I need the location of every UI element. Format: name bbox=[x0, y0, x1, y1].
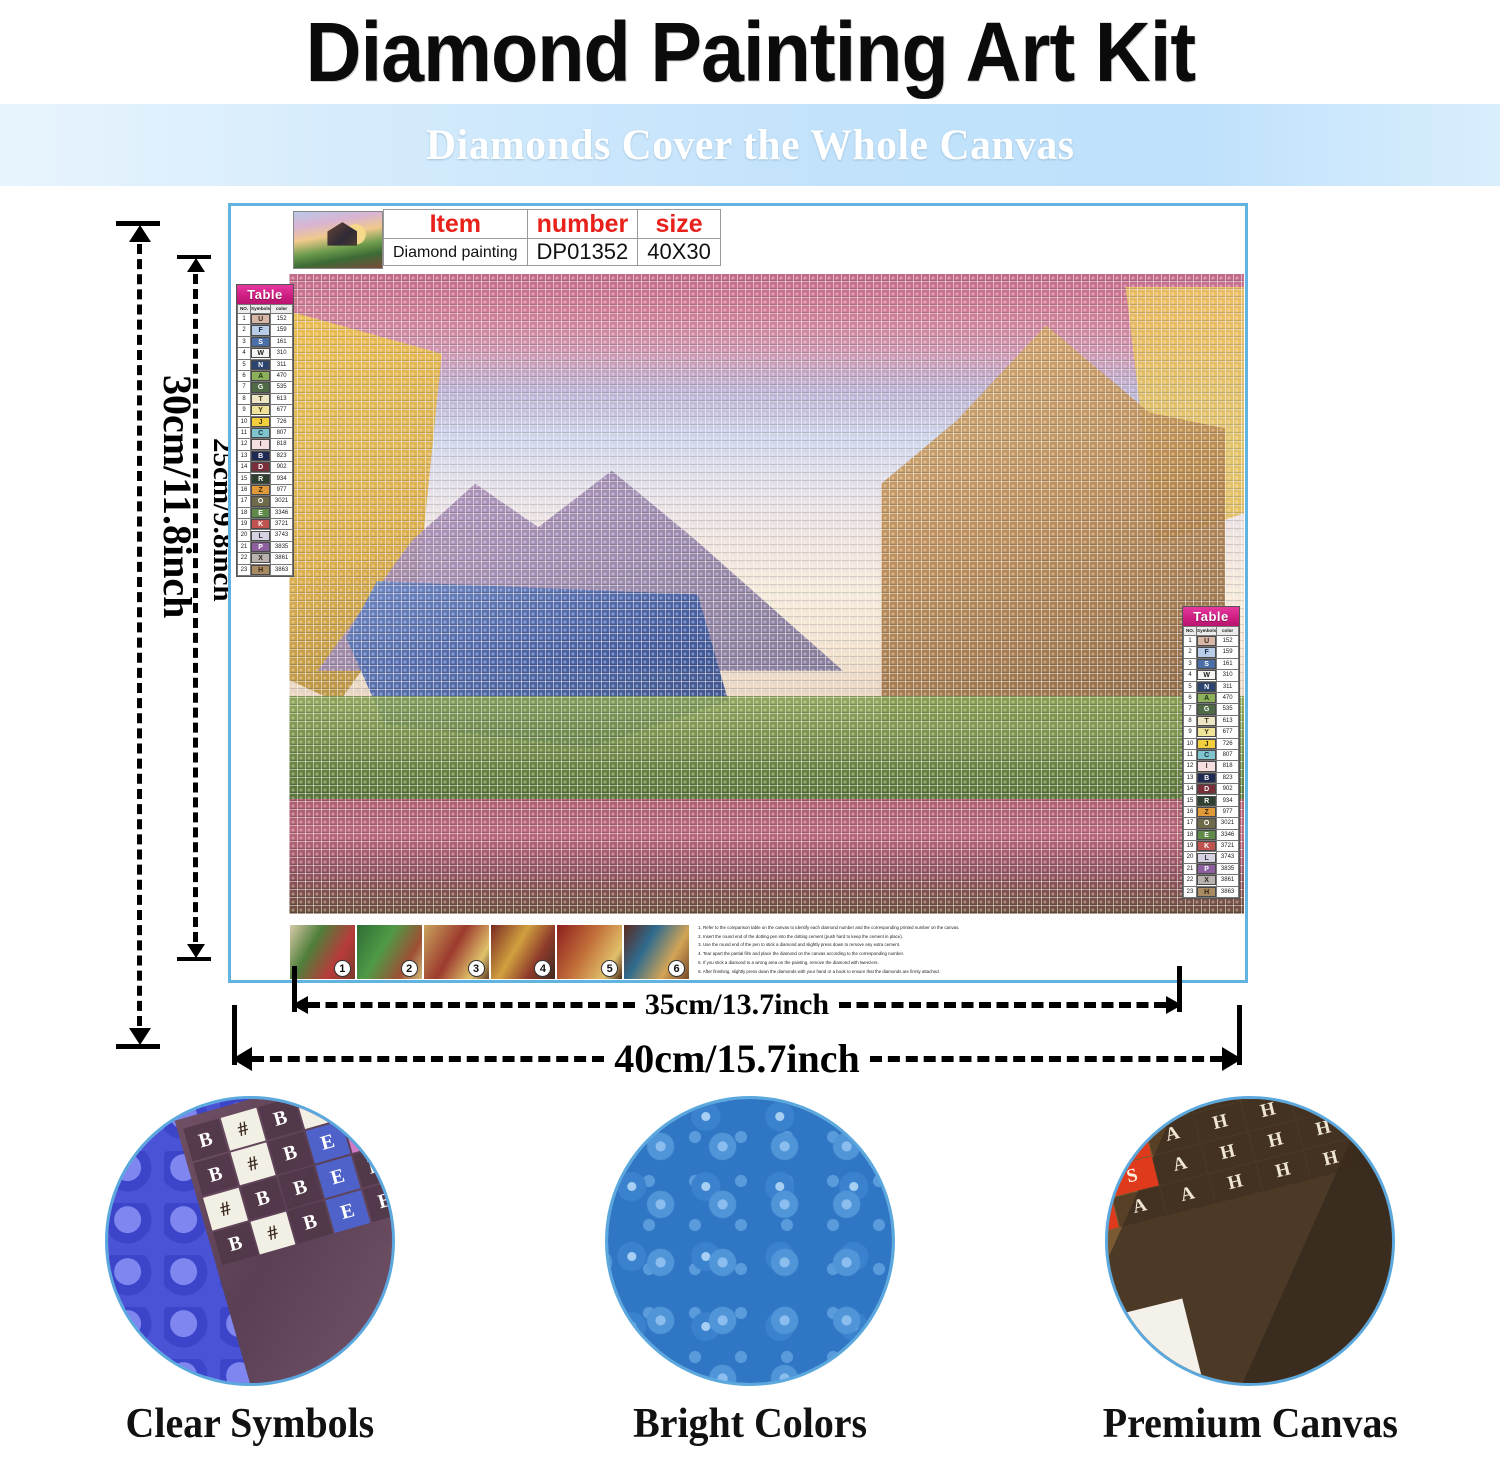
color-table-row: 20L3743 bbox=[1184, 852, 1239, 863]
color-table-row: 21P3835 bbox=[1184, 863, 1239, 874]
cell-color-code: 3021 bbox=[271, 496, 293, 507]
cell-no: 7 bbox=[1184, 704, 1197, 715]
cell-color-code: 161 bbox=[271, 336, 293, 347]
color-table-row: 15R934 bbox=[1184, 795, 1239, 806]
color-swatch: I bbox=[1197, 761, 1216, 771]
symbol-cell: E bbox=[325, 1190, 370, 1233]
color-swatch: Z bbox=[1197, 807, 1216, 817]
feature-caption: Bright Colors bbox=[633, 1400, 867, 1448]
color-swatch: B bbox=[1197, 773, 1216, 783]
feature-highlights: B # B # B B # B E K # B B E B B # bbox=[0, 1096, 1500, 1474]
cell-symbol: D bbox=[1197, 784, 1217, 795]
color-swatch: J bbox=[1197, 739, 1216, 749]
symbol-canvas-artwork bbox=[289, 274, 1244, 914]
cell-symbol: G bbox=[1197, 704, 1217, 715]
instruction-step-text: 4. Tear apart the partial film and place… bbox=[698, 950, 1244, 959]
page-subtitle: Diamonds Cover the Whole Canvas bbox=[426, 121, 1074, 170]
cell-symbol: T bbox=[251, 393, 271, 404]
symbol-cell: # bbox=[250, 1212, 295, 1255]
cell-color-code: 3743 bbox=[1217, 852, 1239, 863]
extension-cap bbox=[177, 255, 211, 259]
cell-item-name: Diamond painting bbox=[384, 239, 528, 266]
color-swatch: D bbox=[251, 462, 270, 472]
cell-no: 1 bbox=[238, 314, 251, 325]
cell-no: 11 bbox=[1184, 749, 1197, 760]
color-table-row: 19K3721 bbox=[1184, 841, 1239, 852]
cell-no: 22 bbox=[238, 553, 251, 564]
color-table-row: 21P3835 bbox=[238, 541, 293, 552]
extension-cap bbox=[1237, 1005, 1242, 1065]
cell-symbol: S bbox=[1197, 658, 1217, 669]
feature-image-clear-symbols: B # B # B B # B E K # B B E B B # bbox=[105, 1096, 395, 1386]
cell-symbol: J bbox=[251, 416, 271, 427]
arrow-down-icon bbox=[129, 1028, 151, 1045]
col-color: color bbox=[271, 305, 293, 314]
instruction-step-text: 5. If you stick a diamond to a wrong are… bbox=[698, 959, 1244, 968]
color-swatch: R bbox=[251, 474, 270, 484]
cell-no: 5 bbox=[238, 359, 251, 370]
extension-cap bbox=[177, 957, 211, 961]
color-swatch: S bbox=[251, 337, 270, 347]
col-no: NO. bbox=[238, 305, 251, 314]
color-swatch: A bbox=[251, 371, 270, 381]
color-swatch: H bbox=[1197, 887, 1216, 897]
color-swatch: Y bbox=[251, 405, 270, 415]
cell-symbol: H bbox=[251, 564, 271, 575]
cell-color-code: 3021 bbox=[1217, 818, 1239, 829]
col-color: color bbox=[1217, 627, 1239, 636]
color-swatch: T bbox=[1197, 716, 1216, 726]
color-table-row: 18E3346 bbox=[1184, 829, 1239, 840]
cell-symbol: B bbox=[251, 450, 271, 461]
cell-symbol: L bbox=[251, 530, 271, 541]
color-table-row: 23H3863 bbox=[238, 564, 293, 575]
cell-color-code: 159 bbox=[1217, 647, 1239, 658]
cell-symbol: T bbox=[1197, 715, 1217, 726]
color-swatch: C bbox=[1197, 750, 1216, 760]
cell-no: 8 bbox=[238, 393, 251, 404]
cell-color-code: 3861 bbox=[271, 553, 293, 564]
cell-no: 1 bbox=[1184, 636, 1197, 647]
cell-no: 5 bbox=[1184, 681, 1197, 692]
cell-symbol: W bbox=[1197, 670, 1217, 681]
product-infographic: Diamond Painting Art Kit Diamonds Cover … bbox=[0, 0, 1500, 1474]
color-table-row: 2F159 bbox=[238, 325, 293, 336]
color-table-row: 3S161 bbox=[238, 336, 293, 347]
col-symbol: Symbols bbox=[1197, 627, 1217, 636]
instruction-thumbnail: 4 bbox=[490, 924, 557, 980]
instruction-thumbnail: 3 bbox=[423, 924, 490, 980]
cell-symbol: Y bbox=[251, 405, 271, 416]
cell-color-code: 677 bbox=[271, 405, 293, 416]
instruction-step-number: 3 bbox=[468, 960, 485, 977]
cell-symbol: H bbox=[1197, 886, 1217, 897]
color-swatch: O bbox=[1197, 818, 1216, 828]
cell-color-code: 159 bbox=[271, 325, 293, 336]
cell-color-code: 152 bbox=[271, 314, 293, 325]
cell-symbol: E bbox=[1197, 829, 1217, 840]
cell-color-code: 977 bbox=[1217, 806, 1239, 817]
arrow-up-icon bbox=[129, 225, 151, 242]
instruction-text-block: 1. Refer to the comparison table on the … bbox=[690, 924, 1244, 980]
cell-no: 17 bbox=[1184, 818, 1197, 829]
cell-color-code: 726 bbox=[271, 416, 293, 427]
cell-no: 14 bbox=[238, 462, 251, 473]
col-symbol: Symbols bbox=[251, 305, 271, 314]
feature-caption: Premium Canvas bbox=[1102, 1400, 1397, 1448]
color-swatch: I bbox=[251, 439, 270, 449]
color-table-row: 8T613 bbox=[1184, 715, 1239, 726]
cell-no: 6 bbox=[238, 370, 251, 381]
cell-no: 13 bbox=[238, 450, 251, 461]
instruction-step-number: 6 bbox=[668, 960, 685, 977]
cell-color-code: 613 bbox=[1217, 715, 1239, 726]
cell-symbol: E bbox=[251, 507, 271, 518]
color-table-row: 13B823 bbox=[238, 450, 293, 461]
dimension-inner-width-label: 35cm/13.7inch bbox=[635, 988, 839, 1022]
cell-color-code: 3861 bbox=[1217, 875, 1239, 886]
cell-symbol: W bbox=[251, 348, 271, 359]
cell-symbol: C bbox=[251, 427, 271, 438]
color-table-body-left: 1U1522F1593S1614W3105N3116A4707G5358T613… bbox=[238, 314, 293, 576]
cell-symbol: X bbox=[251, 553, 271, 564]
cell-no: 15 bbox=[238, 473, 251, 484]
color-swatch: N bbox=[1197, 682, 1216, 692]
color-table-header-row: NO. Symbols color bbox=[238, 305, 293, 314]
color-table-row: 18E3346 bbox=[238, 507, 293, 518]
cell-symbol: R bbox=[251, 473, 271, 484]
cell-symbol: B bbox=[1197, 772, 1217, 783]
instruction-thumbnail: 6 bbox=[623, 924, 690, 980]
cell-color-code: 726 bbox=[1217, 738, 1239, 749]
subtitle-band: Diamonds Cover the Whole Canvas bbox=[0, 104, 1500, 186]
cell-symbol: I bbox=[251, 439, 271, 450]
dashed-line bbox=[839, 1002, 1166, 1008]
cell-symbol: U bbox=[251, 314, 271, 325]
instruction-step-number: 2 bbox=[401, 960, 418, 977]
cell-color-code: 161 bbox=[1217, 658, 1239, 669]
cell-no: 3 bbox=[238, 336, 251, 347]
extension-cap bbox=[292, 966, 297, 1012]
cell-symbol: N bbox=[251, 359, 271, 370]
cell-no: 18 bbox=[1184, 829, 1197, 840]
color-table-body-right: 1U1522F1593S1614W3105N3116A4707G5358T613… bbox=[1184, 636, 1239, 898]
color-table-row: 13B823 bbox=[1184, 772, 1239, 783]
cell-color-code: 3835 bbox=[271, 541, 293, 552]
color-swatch: W bbox=[251, 348, 270, 358]
cell-no: 23 bbox=[238, 564, 251, 575]
color-table-row: 10J726 bbox=[238, 416, 293, 427]
color-swatch: E bbox=[1197, 830, 1216, 840]
instruction-step-text: 1. Refer to the comparison table on the … bbox=[698, 924, 1244, 933]
cell-color-code: 934 bbox=[1217, 795, 1239, 806]
cell-no: 9 bbox=[238, 405, 251, 416]
cell-no: 6 bbox=[1184, 692, 1197, 703]
table-row: Diamond painting DP01352 40X30 bbox=[384, 239, 721, 266]
color-table-title: Table bbox=[237, 285, 293, 304]
cell-symbol: A bbox=[1197, 692, 1217, 703]
color-table-row: 4W310 bbox=[1184, 670, 1239, 681]
feature-image-premium-canvas: F Y G H H H H F S A H H H H S S A bbox=[1105, 1096, 1395, 1386]
color-table-row: 2F159 bbox=[1184, 647, 1239, 658]
cell-color-code: 311 bbox=[1217, 681, 1239, 692]
color-table-row: 17O3021 bbox=[1184, 818, 1239, 829]
color-table-row: 6A470 bbox=[1184, 692, 1239, 703]
title-bar: Diamond Painting Art Kit bbox=[0, 0, 1500, 104]
color-table-grid-left: NO. Symbols color 1U1522F1593S1614W3105N… bbox=[237, 304, 293, 576]
color-table-row: 1U152 bbox=[1184, 636, 1239, 647]
cell-no: 20 bbox=[1184, 852, 1197, 863]
instruction-step-text: 6. After finishing, slightly press down … bbox=[698, 968, 1244, 977]
header-cell-size: size bbox=[638, 210, 721, 239]
feature-clear-symbols: B # B # B B # B E K # B B E B B # bbox=[0, 1096, 500, 1474]
cell-symbol: D bbox=[251, 462, 271, 473]
color-swatch: A bbox=[1197, 693, 1216, 703]
arrow-up-icon bbox=[187, 258, 205, 272]
cell-item-size: 40X30 bbox=[638, 239, 721, 266]
extension-cap bbox=[1177, 966, 1182, 1012]
cell-no: 15 bbox=[1184, 795, 1197, 806]
extension-cap bbox=[116, 1044, 160, 1049]
color-table-row: 5N311 bbox=[238, 359, 293, 370]
cell-symbol: C bbox=[1197, 749, 1217, 760]
instruction-thumbnail: 5 bbox=[556, 924, 623, 980]
cell-color-code: 902 bbox=[1217, 784, 1239, 795]
cell-no: 4 bbox=[1184, 670, 1197, 681]
dimension-outer-width-label: 40cm/15.7inch bbox=[604, 1035, 870, 1082]
color-table-row: 9Y677 bbox=[1184, 727, 1239, 738]
cell-symbol: O bbox=[251, 496, 271, 507]
instruction-strip: 123456 1. Refer to the comparison table … bbox=[289, 924, 1244, 980]
cell-symbol: N bbox=[1197, 681, 1217, 692]
dashed-line bbox=[193, 274, 198, 942]
extension-cap bbox=[116, 221, 160, 226]
cell-color-code: 3721 bbox=[1217, 841, 1239, 852]
color-swatch: G bbox=[1197, 704, 1216, 714]
cell-symbol: R bbox=[1197, 795, 1217, 806]
cell-no: 21 bbox=[1184, 863, 1197, 874]
cell-no: 16 bbox=[238, 484, 251, 495]
cell-color-code: 807 bbox=[271, 427, 293, 438]
header-cell-number: number bbox=[527, 210, 638, 239]
color-table-row: 14D902 bbox=[1184, 784, 1239, 795]
color-table-row: 7G535 bbox=[238, 382, 293, 393]
color-swatch: U bbox=[251, 314, 270, 324]
color-swatch: F bbox=[1197, 647, 1216, 657]
artwork-preview-thumbnail bbox=[293, 211, 383, 269]
dashed-line bbox=[870, 1056, 1222, 1062]
color-table-row: 9Y677 bbox=[238, 405, 293, 416]
color-table-row: 11C807 bbox=[238, 427, 293, 438]
color-table-row: 22X3861 bbox=[238, 553, 293, 564]
color-table-row: 16Z977 bbox=[238, 484, 293, 495]
instruction-step-text: 2. Insert the round end of the dotting p… bbox=[698, 933, 1244, 942]
symbol-cell: B bbox=[287, 1201, 332, 1244]
color-table-row: 3S161 bbox=[1184, 658, 1239, 669]
cell-symbol: P bbox=[1197, 863, 1217, 874]
color-swatch: L bbox=[1197, 853, 1216, 863]
cell-symbol: F bbox=[251, 325, 271, 336]
color-swatch: L bbox=[251, 531, 270, 541]
canvas-frame: Item number size Diamond painting DP0135… bbox=[228, 203, 1248, 983]
cell-no: 17 bbox=[238, 496, 251, 507]
page-title: Diamond Painting Art Kit bbox=[305, 4, 1195, 101]
color-table-row: 7G535 bbox=[1184, 704, 1239, 715]
cell-no: 18 bbox=[238, 507, 251, 518]
cell-symbol: J bbox=[1197, 738, 1217, 749]
cell-no: 21 bbox=[238, 541, 251, 552]
feature-image-bright-colors bbox=[605, 1096, 895, 1386]
cell-color-code: 310 bbox=[271, 348, 293, 359]
color-swatch: X bbox=[1197, 875, 1216, 885]
cell-color-code: 977 bbox=[271, 484, 293, 495]
color-swatch: O bbox=[251, 496, 270, 506]
cell-color-code: 470 bbox=[271, 370, 293, 381]
instruction-step-number: 4 bbox=[534, 960, 551, 977]
cell-color-code: 310 bbox=[1217, 670, 1239, 681]
cell-no: 4 bbox=[238, 348, 251, 359]
color-swatch: J bbox=[251, 417, 270, 427]
item-info-table: Item number size Diamond painting DP0135… bbox=[383, 209, 721, 266]
extension-cap bbox=[232, 1005, 237, 1065]
dashed-line bbox=[137, 244, 142, 1026]
cell-item-number: DP01352 bbox=[527, 239, 638, 266]
cell-symbol: O bbox=[1197, 818, 1217, 829]
color-swatch: P bbox=[1197, 864, 1216, 874]
color-swatch: C bbox=[251, 428, 270, 438]
color-table-header-row: NO. Symbols color bbox=[1184, 627, 1239, 636]
color-table-right: Table NO. Symbols color 1U1522F1593S1614… bbox=[1182, 606, 1240, 899]
color-table-left: Table NO. Symbols color 1U1522F1593S1614… bbox=[236, 284, 294, 577]
symbol-cell: B bbox=[213, 1222, 258, 1265]
color-table-row: 15R934 bbox=[238, 473, 293, 484]
cell-color-code: 3743 bbox=[271, 530, 293, 541]
instruction-step-number: 5 bbox=[601, 960, 618, 977]
cell-color-code: 3835 bbox=[1217, 863, 1239, 874]
cell-symbol: F bbox=[1197, 647, 1217, 658]
color-table-row: 10J726 bbox=[1184, 738, 1239, 749]
product-figure: 30cm/11.8inch 25cm/9.8inch Item number bbox=[0, 190, 1500, 1090]
feature-premium-canvas: F Y G H H H H F S A H H H H S S A bbox=[1000, 1096, 1500, 1474]
cell-no: 19 bbox=[238, 519, 251, 530]
color-swatch: K bbox=[1197, 841, 1216, 851]
cell-symbol: K bbox=[1197, 841, 1217, 852]
col-no: NO. bbox=[1184, 627, 1197, 636]
cell-no: 11 bbox=[238, 427, 251, 438]
cell-symbol: L bbox=[1197, 852, 1217, 863]
cell-color-code: 807 bbox=[1217, 749, 1239, 760]
color-table-row: 16Z977 bbox=[1184, 806, 1239, 817]
cell-color-code: 535 bbox=[1217, 704, 1239, 715]
cell-color-code: 3346 bbox=[271, 507, 293, 518]
cell-color-code: 3863 bbox=[271, 564, 293, 575]
blue-drill-pile bbox=[605, 1096, 895, 1386]
cell-color-code: 3346 bbox=[1217, 829, 1239, 840]
cell-no: 2 bbox=[1184, 647, 1197, 658]
color-table-title: Table bbox=[1183, 607, 1239, 626]
cell-color-code: 818 bbox=[1217, 761, 1239, 772]
cell-color-code: 677 bbox=[1217, 727, 1239, 738]
cell-color-code: 3863 bbox=[1217, 886, 1239, 897]
cell-color-code: 934 bbox=[271, 473, 293, 484]
cell-no: 12 bbox=[238, 439, 251, 450]
cell-no: 7 bbox=[238, 382, 251, 393]
artwork-flowers bbox=[289, 799, 1244, 914]
instruction-step-number: 1 bbox=[334, 960, 351, 977]
cell-no: 10 bbox=[238, 416, 251, 427]
color-swatch: S bbox=[1197, 659, 1216, 669]
color-swatch: H bbox=[251, 565, 270, 575]
cell-symbol: K bbox=[251, 519, 271, 530]
color-swatch: X bbox=[251, 553, 270, 563]
cell-symbol: A bbox=[251, 370, 271, 381]
dimension-outer-width: 40cm/15.7inch bbox=[232, 1035, 1242, 1082]
cell-symbol: X bbox=[1197, 875, 1217, 886]
cell-color-code: 152 bbox=[1217, 636, 1239, 647]
cell-no: 10 bbox=[1184, 738, 1197, 749]
cell-symbol: G bbox=[251, 382, 271, 393]
cell-no: 9 bbox=[1184, 727, 1197, 738]
cell-no: 16 bbox=[1184, 806, 1197, 817]
cell-no: 20 bbox=[238, 530, 251, 541]
cell-no: 2 bbox=[238, 325, 251, 336]
arrow-down-icon bbox=[187, 944, 205, 958]
cell-color-code: 818 bbox=[271, 439, 293, 450]
cell-symbol: S bbox=[251, 336, 271, 347]
feature-caption: Clear Symbols bbox=[126, 1400, 375, 1448]
cell-color-code: 613 bbox=[271, 393, 293, 404]
instruction-thumbnail: 2 bbox=[356, 924, 423, 980]
cell-no: 14 bbox=[1184, 784, 1197, 795]
color-swatch: R bbox=[1197, 796, 1216, 806]
cell-symbol: U bbox=[1197, 636, 1217, 647]
color-swatch: N bbox=[251, 360, 270, 370]
color-table-row: 5N311 bbox=[1184, 681, 1239, 692]
instruction-step-text: 3. Use the round end of the pen to stick… bbox=[698, 941, 1244, 950]
dashed-line bbox=[252, 1056, 604, 1062]
cell-color-code: 902 bbox=[271, 462, 293, 473]
color-table-row: 23H3863 bbox=[1184, 886, 1239, 897]
cell-no: 23 bbox=[1184, 886, 1197, 897]
color-table-row: 19K3721 bbox=[238, 519, 293, 530]
color-table-row: 6A470 bbox=[238, 370, 293, 381]
header-cell-item: Item bbox=[384, 210, 528, 239]
cell-color-code: 823 bbox=[1217, 772, 1239, 783]
color-swatch: P bbox=[251, 542, 270, 552]
cell-no: 12 bbox=[1184, 761, 1197, 772]
cell-no: 3 bbox=[1184, 658, 1197, 669]
color-swatch: E bbox=[251, 508, 270, 518]
color-table-row: 22X3861 bbox=[1184, 875, 1239, 886]
color-table-row: 8T613 bbox=[238, 393, 293, 404]
color-swatch: U bbox=[1197, 636, 1216, 646]
dashed-line bbox=[308, 1002, 635, 1008]
color-table-row: 17O3021 bbox=[238, 496, 293, 507]
color-swatch: Z bbox=[251, 485, 270, 495]
color-swatch: F bbox=[251, 325, 270, 335]
color-swatch: Y bbox=[1197, 727, 1216, 737]
color-swatch: K bbox=[251, 519, 270, 529]
color-table-row: 20L3743 bbox=[238, 530, 293, 541]
cell-color-code: 311 bbox=[271, 359, 293, 370]
cell-symbol: Z bbox=[1197, 806, 1217, 817]
cell-symbol: Y bbox=[1197, 727, 1217, 738]
cell-no: 22 bbox=[1184, 875, 1197, 886]
cell-no: 19 bbox=[1184, 841, 1197, 852]
cell-color-code: 470 bbox=[1217, 692, 1239, 703]
cell-color-code: 535 bbox=[271, 382, 293, 393]
feature-bright-colors: Bright Colors bbox=[500, 1096, 1000, 1474]
